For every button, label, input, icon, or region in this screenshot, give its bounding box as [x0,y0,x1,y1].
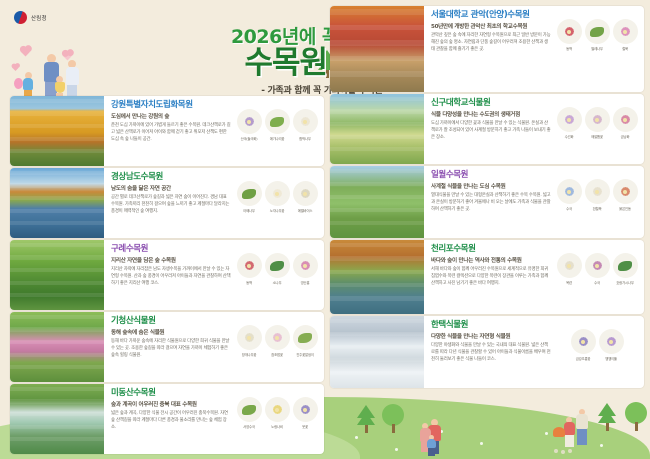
plant-thumbnail: 목련 [556,253,582,285]
plant-thumbnail: 아왜나무 [236,181,262,213]
arboretum-card[interactable]: 기청산식물원동해 숲속에 숨은 식물원동해 바다 가까운 숲속에 자리한 식물원… [10,312,324,382]
plant-thumbnail-label: 붉은인동 [612,207,638,211]
plant-thumbnail-group: 아왜나무노각나무꽃에델바이스 [234,173,320,234]
arboretum-name: 미동산수목원 [111,389,231,398]
leaf-icon [293,325,318,350]
plant-thumbnail: 호랑가시나무 [612,253,638,285]
arboretum-name: 서울대학교 관악(안양)수목원 [431,11,551,20]
flower-icon [585,179,610,204]
card-photo [10,168,104,238]
arboretum-card[interactable]: 구례수목원지리산 자연을 담은 숲 수목원지리산 자락에 자리잡은 남도 자생수… [10,240,324,310]
plant-thumbnail-label: 애기나리꽃 [264,137,290,141]
arboretum-card[interactable]: 신구대학교식물원식물 다양성을 만나는 수도권의 생태거점도심 가까이에서 다양… [330,94,644,164]
plant-thumbnail-group: 동백찔레나무철쭉 [554,11,640,88]
arboretum-card[interactable]: 일월수목원사계절 식물을 만나는 도심 수목원열대식물을 만날 수 있는 대형온… [330,166,644,238]
plant-thumbnail-label: 매발톱꽃 [584,135,610,139]
card-photo [10,384,104,454]
flower-icon [599,329,624,354]
plant-thumbnail-label: 참조팝꽃 [264,353,290,357]
plant-thumbnail-label: 깽깽이풀 [598,357,624,361]
pine-tree-icon [357,405,375,433]
flower-icon [265,325,290,350]
card-photo [10,96,104,166]
plant-thumbnail-label: 진주꽃말냉이 [292,353,318,357]
plant-thumbnail: 소나무 [264,253,290,285]
plant-thumbnail: 노각나무꽃 [264,181,290,213]
flower-icon [613,19,638,44]
plant-thumbnail: 애기나리꽃 [264,109,290,141]
arboretum-name: 한택식물원 [431,321,551,330]
plant-thumbnail-label: 흰철쭉 [584,207,610,211]
flower-icon [293,253,318,278]
plant-thumbnail-label: 산국(들국화) [236,137,262,141]
plant-thumbnail: 노랑나비 [264,397,290,429]
card-photo [10,240,104,310]
arboretum-tagline: 도심에서 만나는 강원의 숲 [111,112,231,120]
plant-thumbnail-label: 수국 [556,207,582,211]
plant-thumbnail: 서양수국 [236,397,262,429]
plant-thumbnail: 동백 [236,253,262,285]
arboretum-tagline: 남도의 숨을 닮은 자연 공간 [111,184,231,192]
plant-thumbnail: 함박나무 [292,109,318,141]
arboretum-card[interactable]: 천리포수목원바다와 숲이 만나는 역사와 전통의 수목원서해 바다와 숲이 함께… [330,240,644,314]
arboretum-card[interactable]: 한택식물원다양한 식물을 만나는 자연형 식물원다양한 야생화와 식물을 만날 … [330,316,644,388]
plant-thumbnail: 찔레나무 [584,19,610,51]
plant-thumbnail-label: 영산홍 [292,281,318,285]
arboretum-name: 경상남도수목원 [111,173,231,182]
header-family-illustration [6,38,92,100]
arboretum-tagline: 바다와 숲이 만나는 역사와 전통의 수목원 [431,256,551,264]
plant-thumbnail-label: 수국 [584,281,610,285]
arboretum-name: 구례수목원 [111,245,231,254]
tree-icon [382,404,404,433]
arboretum-tagline: 동해 숲속에 숨은 식물원 [111,328,231,336]
leaf-icon [613,253,638,278]
leaf-icon [237,181,262,206]
plant-thumbnail: 수국 [556,179,582,211]
plant-thumbnail-group: 망개나무꽃참조팝꽃진주꽃말냉이 [234,317,320,378]
flower-icon [557,19,582,44]
arboretum-description: 서해 바다와 숲이 함께 어우러진 수목원으로 세계적으로 유명한 희귀 침엽수… [431,267,551,287]
flower-icon [557,253,582,278]
flower-icon [265,181,290,206]
flower-icon [237,253,262,278]
plant-thumbnail-label: 붓꽃 [292,425,318,429]
flower-icon [585,253,610,278]
leaf-icon [237,397,262,422]
card-photo [10,312,104,382]
flower-icon [613,107,638,132]
arboretum-tagline: 지리산 자연을 담은 숲 수목원 [111,256,231,264]
arboretum-name: 일월수목원 [431,171,551,180]
card-photo [330,240,424,314]
arboretum-tagline: 50년만에 개방한 관악산 최초의 학교수목원 [431,22,551,30]
arboretum-description: 넓은 숲과 계곡, 다양한 식물 전시 공간이 어우러진 충북수목원. 자연 숲… [111,411,231,431]
left-card-column: 강원특별자치도립화목원도심에서 만나는 강원의 숲춘천 도심 가까이에 있어 가… [10,96,324,456]
flower-icon [293,397,318,422]
plant-thumbnail: 금낭화 [612,107,638,139]
plant-thumbnail-group: 목련수국호랑가시나무 [554,245,640,310]
arboretum-name: 천리포수목원 [431,245,551,254]
footer-family-illustration [418,415,464,455]
plant-thumbnail: 깽깽이풀 [598,329,624,361]
plant-thumbnail-label: 찔레나무 [584,47,610,51]
plant-thumbnail: 영산홍 [292,253,318,285]
arboretum-card[interactable]: 경상남도수목원남도의 숨을 닮은 자연 공간공간 별로 데크산책로가 숲길과 넓… [10,168,324,238]
arboretum-card[interactable]: 미동산수목원숲과 계곡이 어우러진 충북 대표 수목원넓은 숲과 계곡, 다양한… [10,384,324,454]
plant-thumbnail: 철쭉 [612,19,638,51]
arboretum-description: 관악산 깊은 숲 속에 자리한 자연형 수목원으로 최근 일반 방문이 가능해진… [431,33,551,53]
arboretum-tagline: 숲과 계곡이 어우러진 충북 대표 수목원 [111,400,231,408]
arboretum-name: 강원특별자치도립화목원 [111,101,231,110]
footer-family-illustration-2 [552,409,612,455]
plant-thumbnail: 산국(들국화) [236,109,262,141]
plant-thumbnail: 수선화 [556,107,582,139]
plant-thumbnail: 수국 [584,253,610,285]
arboretum-description: 열대식물을 만날 수 있는 대형온실과 산책하기 좋은 수목 수목원. 넓고과 … [431,193,551,213]
plant-thumbnail: 붓꽃 [292,397,318,429]
plant-thumbnail-label: 에델바이스 [292,209,318,213]
flower-icon [613,179,638,204]
arboretum-tagline: 다양한 식물을 만나는 자연형 식물원 [431,332,551,340]
flower-icon [237,109,262,134]
plant-thumbnail-label: 동백 [236,281,262,285]
flower-icon [585,107,610,132]
plant-thumbnail-group: 수선화매발톱꽃금낭화 [554,99,640,160]
plant-thumbnail: 흰철쭉 [584,179,610,211]
plant-thumbnail: 진주꽃말냉이 [292,325,318,357]
leaf-icon [585,19,610,44]
arboretum-card[interactable]: 서울대학교 관악(안양)수목원50년만에 개방한 관악산 최초의 학교수목원관악… [330,6,644,92]
plant-thumbnail: 매발톱꽃 [584,107,610,139]
flower-icon [293,109,318,134]
plant-thumbnail-label: 금강초롱꽃 [570,357,596,361]
plant-thumbnail-group: 서양수국노랑나비붓꽃 [234,389,320,450]
plant-thumbnail: 붉은인동 [612,179,638,211]
plant-thumbnail-label: 서양수국 [236,425,262,429]
plant-thumbnail-label: 노랑나비 [264,425,290,429]
flower-icon [557,107,582,132]
plant-thumbnail: 참조팝꽃 [264,325,290,357]
plant-thumbnail-label: 호랑가시나무 [612,281,638,285]
leaf-icon [265,253,290,278]
arboretum-description: 지리산 자락에 자리잡은 남도 자생수목을 가까이에서 만날 수 있는 자연형 … [111,267,231,287]
arboretum-tagline: 사계절 식물을 만나는 도심 수목원 [431,182,551,190]
card-photo [330,6,424,92]
plant-thumbnail-label: 목련 [556,281,582,285]
poster-root: 산림청 한국수목원정원관리원 2026년에 꼭 가봐야 할 수목원 10선 - … [0,0,650,459]
arboretum-card[interactable]: 강원특별자치도립화목원도심에서 만나는 강원의 숲춘천 도심 가까이에 있어 가… [10,96,324,166]
plant-thumbnail-label: 아왜나무 [236,209,262,213]
arboretum-tagline: 식물 다양성을 만나는 수도권의 생태거점 [431,110,551,118]
plant-thumbnail-label: 소나무 [264,281,290,285]
flower-icon [265,397,290,422]
logo-left-label: 산림청 [31,14,47,22]
plant-thumbnail-label: 망개나무꽃 [236,353,262,357]
plant-thumbnail: 금강초롱꽃 [570,329,596,361]
tree-icon [625,402,647,431]
arboretum-name: 기청산식물원 [111,317,231,326]
plant-thumbnail-label: 수선화 [556,135,582,139]
plant-thumbnail-label: 동백 [556,47,582,51]
leaf-icon [265,109,290,134]
card-photo [330,94,424,164]
arboretum-description: 도심 가까이에서 다양한 꽃과 식물을 만날 수 있는 식물원. 온실과 산책로… [431,121,551,141]
arboretum-name: 신구대학교식물원 [431,99,551,108]
arboretum-description: 동해 바다 가까운 숲속에 자리한 식물원으로 다양한 희귀 식물을 만날 수 … [111,339,231,359]
arboretum-description: 춘천 도심 가까이에 있어 가볍게 들르기 좋은 수목원. 데크산책로가 길고 … [111,123,231,143]
plant-thumbnail: 동백 [556,19,582,51]
flower-icon [557,179,582,204]
flower-icon [237,325,262,350]
flower-icon [571,329,596,354]
plant-thumbnail-group: 산국(들국화)애기나리꽃함박나무 [234,101,320,162]
plant-thumbnail-label: 노각나무꽃 [264,209,290,213]
arboretum-description: 공간 별로 데크산책로가 숲길과 넓은 자연 숲이 이어진다. 경남 대표 수목… [111,195,231,215]
plant-thumbnail-group: 금강초롱꽃깽깽이풀 [554,321,640,384]
title-main-text: 수목원 [244,45,336,81]
card-photo [330,166,424,238]
arboretum-description: 다양한 야생화와 식물을 만날 수 있는 국내의 대표 식물원. 넓은 산책로를… [431,343,551,363]
plant-thumbnail-group: 동백소나무영산홍 [234,245,320,306]
plant-thumbnail-label: 금낭화 [612,135,638,139]
flower-icon [293,181,318,206]
plant-thumbnail-label: 철쭉 [612,47,638,51]
plant-thumbnail-label: 함박나무 [292,137,318,141]
plant-thumbnail: 에델바이스 [292,181,318,213]
plant-thumbnail: 망개나무꽃 [236,325,262,357]
right-card-column: 서울대학교 관악(안양)수목원50년만에 개방한 관악산 최초의 학교수목원관악… [330,6,644,390]
card-photo [330,316,424,388]
plant-thumbnail-group: 수국흰철쭉붉은인동 [554,171,640,234]
